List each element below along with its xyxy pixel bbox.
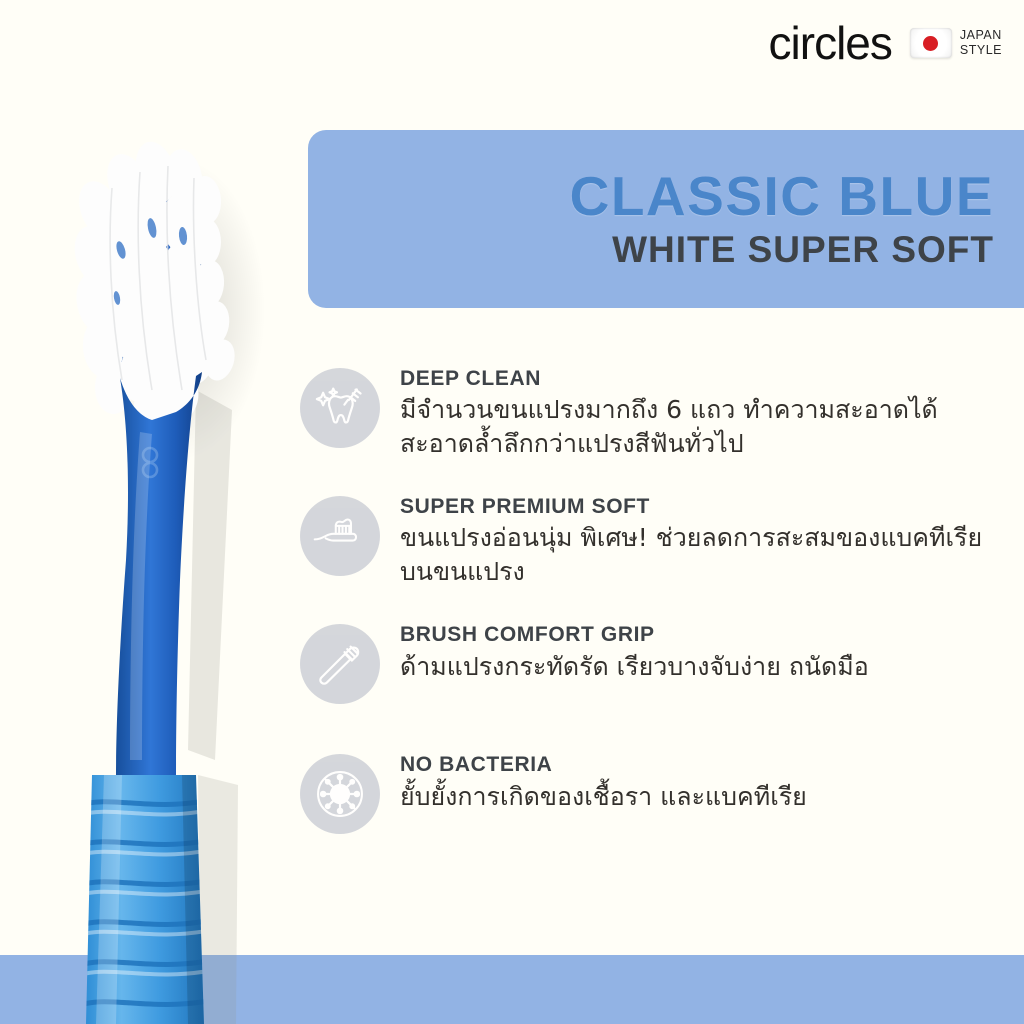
toothbrush-paste-icon (300, 496, 380, 576)
title-banner: CLASSIC BLUE WHITE SUPER SOFT (308, 130, 1024, 308)
brand-header: circles JAPAN STYLE (769, 20, 1002, 66)
feature-title: SUPER PREMIUM SOFT (400, 494, 1000, 519)
product-title: CLASSIC BLUE (570, 168, 994, 226)
feature-description: ยั้บยั้งการเกิดของเชื้อรา และแบคทีเรีย (400, 780, 1000, 814)
feature-title: BRUSH COMFORT GRIP (400, 622, 1000, 647)
no-bacteria-icon (300, 754, 380, 834)
japan-label-line1: JAPAN (960, 28, 1002, 43)
tooth-sparkle-brush-icon (300, 368, 380, 448)
brand-wordmark: circles (769, 20, 892, 66)
feature-item-no-bacteria: NO BACTERIA ยั้บยั้งการเกิดของเชื้อรา แล… (300, 746, 1000, 834)
feature-title: NO BACTERIA (400, 752, 1000, 777)
feature-item-brush-comfort-grip: BRUSH COMFORT GRIP ด้ามแปรงกระทัดรัด เรี… (300, 616, 1000, 704)
feature-text-block: SUPER PREMIUM SOFT ขนแปรงอ่อนนุ่ม พิเศษ!… (400, 488, 1000, 588)
toothbrush-diagonal-icon (300, 624, 380, 704)
japan-flag-icon (910, 28, 952, 58)
japan-style-label: JAPAN STYLE (960, 28, 1002, 58)
feature-text-block: DEEP CLEAN มีจำนวนขนแปรงมากถึง 6 แถว ทำค… (400, 360, 1000, 460)
flag-red-circle (923, 36, 938, 51)
feature-description: มีจำนวนขนแปรงมากถึง 6 แถว ทำความสะอาดได้… (400, 393, 1000, 460)
japan-style-badge: JAPAN STYLE (910, 28, 1002, 58)
feature-list: DEEP CLEAN มีจำนวนขนแปรงมากถึง 6 แถว ทำค… (300, 360, 1000, 834)
feature-item-deep-clean: DEEP CLEAN มีจำนวนขนแปรงมากถึง 6 แถว ทำค… (300, 360, 1000, 460)
feature-description: ด้ามแปรงกระทัดรัด เรียวบางจับง่าย ถนัดมื… (400, 650, 1000, 684)
japan-label-line2: STYLE (960, 43, 1002, 58)
feature-title: DEEP CLEAN (400, 366, 1000, 391)
feature-text-block: NO BACTERIA ยั้บยั้งการเกิดของเชื้อรา แล… (400, 746, 1000, 813)
product-toothbrush-image (0, 60, 300, 1024)
feature-description: ขนแปรงอ่อนนุ่ม พิเศษ! ช่วยลดการสะสมของแบ… (400, 521, 1000, 588)
feature-text-block: BRUSH COMFORT GRIP ด้ามแปรงกระทัดรัด เรี… (400, 616, 1000, 683)
product-subtitle: WHITE SUPER SOFT (612, 231, 994, 270)
feature-item-super-premium-soft: SUPER PREMIUM SOFT ขนแปรงอ่อนนุ่ม พิเศษ!… (300, 488, 1000, 588)
